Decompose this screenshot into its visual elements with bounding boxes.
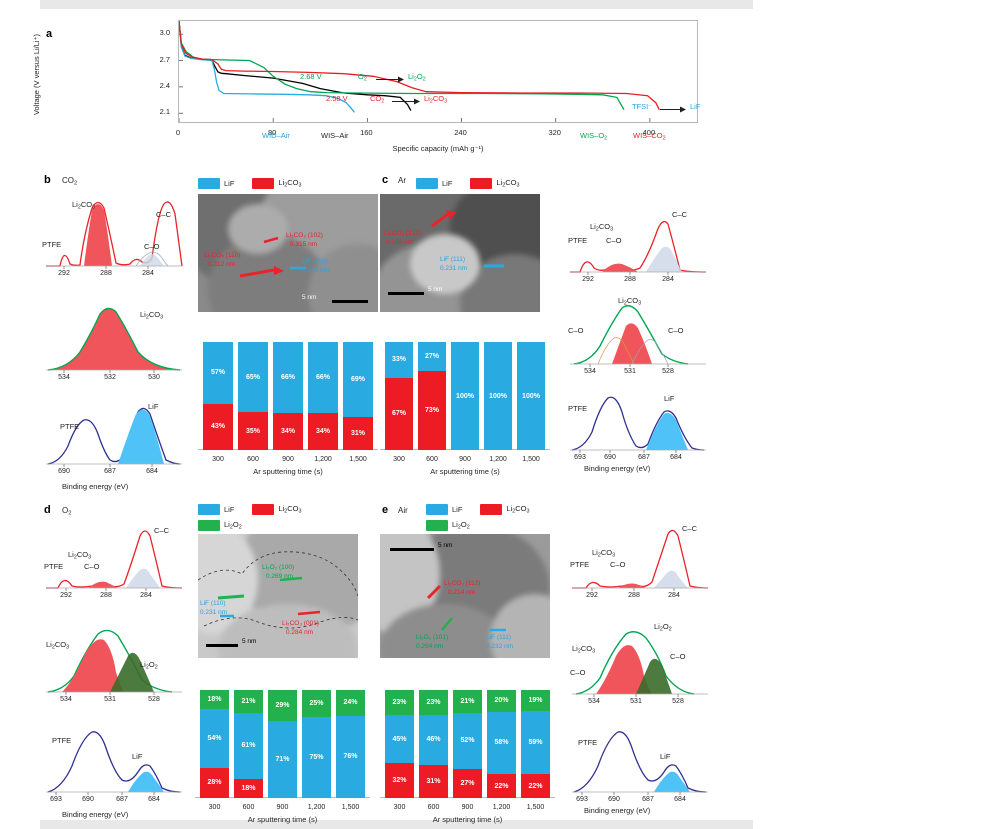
bar-xtick-900: 900 [448, 456, 482, 463]
peak-label-co: C–O [606, 236, 621, 245]
panel-d-legend-row1: LiF Li2CO3 [198, 504, 302, 515]
panel-d-spectrum-o1s: 534 531 528 Li2CO3 Li2O2 [44, 622, 184, 696]
panel-e-spectrum-f1s: 693 690 687 684 PTFE LiF [570, 724, 710, 796]
panel-d-tem-image: Li₂O₂ (100) 0.269 nm LiF (110) 0.231 nm … [198, 534, 358, 658]
tem-label-lif-111: LiF (111) [440, 256, 465, 263]
annotation-li2co3: Li2CO3 [424, 94, 447, 104]
panel-a-x-axis-label: Specific capacity (mAh g⁻¹) [178, 144, 698, 153]
annotation-o2: O2 [358, 72, 367, 82]
bar-segment-Li₂CO₃: 22% [521, 774, 550, 798]
bar-segment-Li₂O₂: 21% [234, 690, 263, 713]
bar-xtick-300: 300 [383, 804, 417, 811]
panel-e-letter: e [382, 504, 388, 516]
bar-segment-LiF: 59% [521, 711, 550, 775]
panel-e-axis-title: Binding energy (eV) [584, 806, 650, 815]
tem-label-lif-110: LiF (110) [302, 258, 328, 265]
tem-label-lif-110-d: 0.281 nm [302, 267, 329, 274]
bar-xtick-300: 300 [201, 456, 235, 463]
legend-label-li2co3: Li2CO3 [278, 504, 301, 514]
panel-a-letter: a [46, 28, 52, 40]
peak-label-lif: LiF [660, 752, 670, 761]
tick-687: 687 [97, 468, 123, 475]
tick-690: 690 [601, 796, 627, 803]
bar-segment-LiF: 45% [385, 715, 414, 764]
bar-segment-LiF: 46% [419, 715, 448, 765]
bar-xtick-1,200: 1,200 [300, 804, 334, 811]
tem-label-li2o2-100: Li₂O₂ (100) [262, 564, 294, 571]
bar-segment-LiF: 100% [484, 342, 512, 450]
bar-segment-Li₂O₂: 29% [268, 690, 297, 721]
tick-690: 690 [597, 454, 623, 461]
tem-label-li2o2-101-d: 0.264 nm [416, 643, 443, 650]
peak-label-li2o2: Li2O2 [654, 622, 672, 632]
bar-segment-LiF: 69% [343, 342, 373, 417]
peak-label-li2co3: Li2CO3 [590, 222, 613, 232]
tem-scalebar [390, 548, 434, 551]
bar-segment-LiF: 75% [302, 717, 331, 798]
peak-label-ptfe: PTFE [44, 562, 63, 571]
panel-c-spectrum-o1s: 534 531 528 Li2CO3 C–O C–O [568, 298, 708, 368]
legend-swatch-lif [426, 504, 448, 515]
tem-scalebar-label: 5 nm [302, 294, 316, 301]
panel-b-spectrum-o1s: 534 532 530 Li2CO3 [44, 302, 184, 374]
panel-d-spectrum-c1s: 292 288 284 PTFE Li2CO3 C–O C–C [44, 524, 184, 594]
panel-d-axis-title: Binding energy (eV) [62, 810, 128, 819]
tick-284: 284 [135, 270, 161, 277]
panel-a-ytick-2.4: 2.4 [148, 81, 170, 90]
panel-c: c Ar LiF Li2CO3 Li₂CO₃ (21̅2) 0.259 nm L… [378, 172, 718, 492]
legend-swatch-lif [198, 504, 220, 515]
peak-label-co: C–O [144, 242, 159, 251]
bar-column-300[interactable]: 57%43% [203, 342, 233, 450]
panel-c-axis-title: Binding energy (eV) [584, 464, 650, 473]
tick-684: 684 [663, 454, 689, 461]
panel-d: d O2 LiF Li2CO3 Li2O2 292 288 [40, 500, 380, 820]
tem-scalebar [388, 292, 424, 295]
bar-column-1,500[interactable]: 24%76% [336, 690, 365, 798]
bar-segment-Li₂CO₃: 27% [453, 769, 482, 798]
tem-label-li2o2-101: Li₂O₂ (101) [416, 634, 448, 641]
bar-segment-Li₂CO₃: 22% [487, 774, 516, 798]
tem-label-li2co3-212: Li₂CO₃ (21̅2) [384, 230, 421, 237]
tick-693: 693 [567, 454, 593, 461]
panel-b-letter: b [44, 174, 51, 186]
bar-column-300[interactable]: 33%67% [385, 342, 413, 450]
annotation-lif: LiF [690, 102, 700, 111]
tick-288: 288 [93, 270, 119, 277]
panel-b-spectrum-c1s: 292 288 284 PTFE Li2CO3 C–C C–O [44, 194, 184, 272]
tick-534: 534 [577, 368, 603, 375]
panel-a-xtick-160: 160 [351, 128, 381, 137]
legend-label-lif: LiF [224, 179, 234, 188]
bar-segment-Li₂CO₃: 32% [385, 763, 414, 798]
bar-xtick-1,500: 1,500 [519, 804, 553, 811]
peak-label-li2co3: Li2CO3 [68, 550, 91, 560]
bar-segment-LiF: 71% [268, 721, 297, 798]
bar-segment-Li₂O₂: 25% [302, 690, 331, 717]
bar-column-600[interactable]: 65%35% [238, 342, 268, 450]
bar-xtick-600: 600 [417, 804, 451, 811]
bar-segment-Li₂CO₃: 73% [418, 371, 446, 450]
panel-e-legend-row1: LiF Li2CO3 [426, 504, 530, 515]
bar-segment-LiF: 33% [385, 342, 413, 378]
peak-label-cc: C–C [156, 210, 171, 219]
tem-label-li2o2-100-d: 0.269 nm [266, 573, 293, 580]
bar-column-1,500[interactable]: 69%31% [343, 342, 373, 450]
bar-segment-LiF: 61% [234, 713, 263, 779]
tem-scalebar-label: 5 nm [242, 638, 256, 645]
tick-284: 284 [661, 592, 687, 599]
panel-e-tem-image: 5 nm Li₂CO₃ (112) 0.214 nm Li₂O₂ (101) 0… [380, 534, 550, 658]
bar-xtick-900: 900 [271, 456, 305, 463]
bar-segment-LiF: 58% [487, 712, 516, 775]
legend-swatch-li2co3 [470, 178, 492, 189]
peak-label-cc: C–C [154, 526, 169, 535]
peak-label-co-left: C–O [570, 668, 585, 677]
panel-e-bar-chart: 23%45%32%30023%46%31%60021%52%27%90020%5… [380, 672, 555, 812]
tem-label-lif-111-d: 0.232 nm [486, 643, 513, 650]
tick-284: 284 [655, 276, 681, 283]
annotation-li2o2: Li2O2 [408, 72, 426, 82]
peak-label-ptfe: PTFE [570, 560, 589, 569]
bar-column-1,500[interactable]: 19%59%22% [521, 690, 550, 798]
tem-label-li2co3-112-d: 0.214 nm [448, 589, 475, 596]
bar-chart-x-label: Ar sputtering time (s) [380, 815, 555, 824]
peak-label-ptfe-f1s: PTFE [568, 404, 587, 413]
bar-column-1,200[interactable]: 20%58%22% [487, 690, 516, 798]
bar-column-900[interactable]: 100% [451, 342, 479, 450]
tem-label-li2co3-001-d: 0.284 nm [286, 629, 313, 636]
peak-label-co: C–O [610, 560, 625, 569]
tick-284: 284 [133, 592, 159, 599]
legend-label-li2o2: Li2O2 [224, 520, 242, 530]
annotation-co2: CO2 [370, 94, 384, 104]
tick-684: 684 [141, 796, 167, 803]
panel-a-xtick-0: 0 [163, 128, 193, 137]
bar-segment-Li₂O₂: 20% [487, 690, 516, 712]
panel-a-plot-area [178, 20, 698, 123]
tem-scalebar [332, 300, 368, 303]
bar-column-1,500[interactable]: 100% [517, 342, 545, 450]
tem-label-li2co3-110: Li₂CO₃ (11̅0) [204, 252, 240, 259]
tick-292: 292 [579, 592, 605, 599]
tem-label-lif-110-d: 0.231 nm [200, 609, 227, 616]
bar-xtick-1,200: 1,200 [485, 804, 519, 811]
legend-label-li2co3: Li2CO3 [496, 178, 519, 188]
tem-scalebar [206, 644, 238, 647]
tick-687: 687 [109, 796, 135, 803]
peak-label-co: C–O [84, 562, 99, 571]
bar-xtick-300: 300 [382, 456, 416, 463]
legend-swatch-lif [198, 178, 220, 189]
panel-d-bar-chart: 18%54%28%30021%61%18%60029%71%90025%75%1… [195, 672, 370, 812]
legend-swatch-lif [416, 178, 438, 189]
bar-xtick-900: 900 [451, 804, 485, 811]
panel-a-xtick-320: 320 [540, 128, 570, 137]
tick-684: 684 [667, 796, 693, 803]
panel-e-legend-row2: Li2O2 [426, 520, 470, 531]
curve-label-wid-air: WID–Air [262, 131, 290, 140]
tick-534: 534 [51, 374, 77, 381]
tick-690: 690 [75, 796, 101, 803]
bar-segment-Li₂CO₃: 35% [238, 412, 268, 450]
bar-column-900[interactable]: 21%52%27% [453, 690, 482, 798]
tick-528: 528 [141, 696, 167, 703]
annotation-268v: 2.68 V [300, 72, 322, 81]
bar-xtick-600: 600 [415, 456, 449, 463]
panel-c-spectrum-f1s: 693 690 687 684 PTFE LiF [568, 384, 708, 454]
tem-label-li2co3-110-d: 0.312 nm [208, 261, 235, 268]
bar-column-600[interactable]: 21%61%18% [234, 690, 263, 798]
bar-segment-Li₂O₂: 23% [419, 690, 448, 715]
bar-xtick-900: 900 [266, 804, 300, 811]
bar-xtick-1,500: 1,500 [514, 456, 548, 463]
panel-d-letter: d [44, 504, 51, 516]
tick-528: 528 [655, 368, 681, 375]
bar-column-600[interactable]: 27%73% [418, 342, 446, 450]
peak-label-ptfe: PTFE [42, 240, 61, 249]
panel-a: a Voltage (V versus Li/Li⁺) Specific cap… [40, 14, 753, 164]
peak-label-lif: LiF [132, 752, 142, 761]
bar-xtick-1,200: 1,200 [481, 456, 515, 463]
panel-b: b CO2 292 288 284 PTFE Li2CO3 C–C C–O [40, 172, 380, 492]
curve-label-wis-co2: WIS–CO2 [633, 131, 666, 141]
peak-label-co-right: C–O [668, 326, 683, 335]
panel-b-tem-image: Li₂CO₃ (102) 0.315 nm Li₂CO₃ (11̅0) 0.31… [198, 194, 378, 312]
panel-b-axis-title: Binding energy (eV) [62, 482, 128, 491]
bar-column-900[interactable]: 29%71% [268, 690, 297, 798]
panel-c-spectrum-c1s: 292 288 284 PTFE Li2CO3 C–O C–C [568, 212, 708, 278]
tick-292: 292 [575, 276, 601, 283]
tem-label-li2co3-212-d: 0.259 nm [386, 239, 413, 246]
bar-column-600[interactable]: 23%46%31% [419, 690, 448, 798]
bar-segment-LiF: 66% [273, 342, 303, 413]
panel-c-legend: LiF Li2CO3 [380, 178, 520, 189]
bar-column-1,200[interactable]: 25%75% [302, 690, 331, 798]
bar-xtick-1,500: 1,500 [341, 456, 375, 463]
peak-label-li2co3: Li2CO3 [72, 200, 95, 210]
panel-b-bar-chart: 57%43%30065%35%60066%34%90066%34%1,20069… [198, 324, 378, 464]
peak-label-li2co3: Li2CO3 [592, 548, 615, 558]
tick-292: 292 [53, 592, 79, 599]
panel-c-tem-image: Li₂CO₃ (21̅2) 0.259 nm LiF (111) 0.231 n… [380, 194, 540, 312]
peak-label-lif: LiF [148, 402, 158, 411]
tem-scalebar-label: 5 nm [438, 542, 452, 549]
panel-a-xtick-240: 240 [446, 128, 476, 137]
tick-288: 288 [621, 592, 647, 599]
bar-xtick-1,500: 1,500 [334, 804, 368, 811]
panel-e-spectrum-o1s: 534 531 528 Li2CO3 Li2O2 C–O C–O [570, 622, 710, 698]
bar-segment-LiF: 27% [418, 342, 446, 371]
bar-xtick-600: 600 [236, 456, 270, 463]
peak-label-li2co3-o1s: Li2CO3 [618, 296, 641, 306]
bar-chart-x-label: Ar sputtering time (s) [380, 467, 550, 476]
tick-534: 534 [581, 698, 607, 705]
bar-segment-LiF: 100% [517, 342, 545, 450]
curve-WIS–CO₂ [179, 21, 659, 110]
tick-693: 693 [43, 796, 69, 803]
bar-xtick-600: 600 [232, 804, 266, 811]
bar-segment-LiF: 100% [451, 342, 479, 450]
peak-label-co-left: C–O [568, 326, 583, 335]
panel-e: e Air LiF Li2CO3 Li2O2 5 nm Li₂CO₃ (1 [378, 500, 718, 820]
tick-532: 532 [97, 374, 123, 381]
bar-chart-x-label: Ar sputtering time (s) [195, 815, 370, 824]
bar-segment-LiF: 54% [200, 709, 229, 767]
bar-segment-LiF: 65% [238, 342, 268, 412]
tick-531: 531 [97, 696, 123, 703]
curve-label-wis-o2: WIS–O2 [580, 131, 607, 141]
peak-label-cc: C–C [672, 210, 687, 219]
tick-531: 531 [623, 698, 649, 705]
bar-column-1,200[interactable]: 100% [484, 342, 512, 450]
peak-label-ptfe-f1s: PTFE [578, 738, 597, 747]
curve-WIS–O₂ [179, 21, 624, 110]
curve-label-wis-air: WIS–Air [321, 131, 349, 140]
bar-segment-LiF: 76% [336, 716, 365, 798]
tem-label-li2co3-102-d: 0.315 nm [290, 241, 317, 248]
bar-segment-Li₂O₂: 21% [453, 690, 482, 713]
legend-swatch-li2o2 [426, 520, 448, 531]
tick-528: 528 [665, 698, 691, 705]
peak-label-ptfe-f1s: PTFE [60, 422, 79, 431]
figure-page: a Voltage (V versus Li/Li⁺) Specific cap… [0, 0, 991, 829]
panel-a-ytick-2.7: 2.7 [148, 55, 170, 64]
bar-column-300[interactable]: 23%45%32% [385, 690, 414, 798]
tem-label-lif-111-d: 0.231 nm [440, 265, 467, 272]
bar-segment-Li₂CO₃: 67% [385, 378, 413, 450]
bar-segment-Li₂O₂: 18% [200, 690, 229, 709]
arrow-o2-to-li2o2 [376, 76, 404, 83]
legend-label-lif: LiF [442, 179, 452, 188]
legend-label-li2co3: Li2CO3 [278, 178, 301, 188]
arrow-co2-to-li2co3 [392, 98, 420, 105]
legend-label-li2o2: Li2O2 [452, 520, 470, 530]
bar-segment-Li₂CO₃: 34% [308, 413, 338, 450]
peak-label-li2co3-o1s: Li2CO3 [46, 640, 69, 650]
bar-segment-Li₂CO₃: 31% [419, 765, 448, 798]
bar-segment-Li₂O₂: 19% [521, 690, 550, 711]
legend-swatch-li2co3 [252, 504, 274, 515]
bar-segment-Li₂CO₃: 28% [200, 768, 229, 798]
annotation-258v: 2.58 V [326, 94, 348, 103]
bar-segment-Li₂CO₃: 31% [343, 417, 373, 450]
panel-d-legend-row2: Li2O2 [198, 520, 242, 531]
peak-label-li2co3-o1s: Li2CO3 [140, 310, 163, 320]
tick-534: 534 [53, 696, 79, 703]
panel-a-y-axis-label: Voltage (V versus Li/Li⁺) [32, 23, 41, 126]
peak-label-lif: LiF [664, 394, 674, 403]
peak-label-li2co3-o1s: Li2CO3 [572, 644, 595, 654]
tem-label-lif-111: LiF (111) [486, 634, 511, 641]
tem-scalebar-label: 5 nm [428, 286, 442, 293]
legend-label-lif: LiF [452, 505, 462, 514]
tick-288: 288 [93, 592, 119, 599]
panel-b-legend: LiF Li2CO3 [198, 178, 302, 189]
panel-e-spectrum-c1s: 292 288 284 PTFE Li2CO3 C–O C–C [570, 524, 710, 594]
peak-label-cc: C–C [682, 524, 697, 533]
bar-xtick-300: 300 [198, 804, 232, 811]
legend-label-li2co3: Li2CO3 [506, 504, 529, 514]
tick-690: 690 [51, 468, 77, 475]
tem-label-lif-110: LiF (110) [200, 600, 226, 607]
tick-288: 288 [617, 276, 643, 283]
panel-d-condition: O2 [62, 506, 71, 516]
peak-label-ptfe: PTFE [568, 236, 587, 245]
tick-693: 693 [569, 796, 595, 803]
peak-label-co-right: C–O [670, 652, 685, 661]
panel-d-spectrum-f1s: 693 690 687 684 PTFE LiF [44, 722, 184, 796]
bar-column-300[interactable]: 18%54%28% [200, 690, 229, 798]
bar-segment-Li₂O₂: 24% [336, 690, 365, 716]
legend-swatch-li2co3 [480, 504, 502, 515]
arrow-tfsi-to-lif [660, 106, 686, 113]
panel-c-bar-chart: 33%67%30027%73%600100%900100%1,200100%1,… [380, 324, 550, 464]
legend-swatch-li2co3 [252, 178, 274, 189]
panel-a-curves [179, 21, 697, 122]
panel-b-spectrum-f1s: 690 687 684 PTFE LiF [44, 400, 184, 468]
bar-segment-LiF: 52% [453, 713, 482, 769]
bar-column-1,200[interactable]: 66%34% [308, 342, 338, 450]
panel-b-condition: CO2 [62, 176, 77, 186]
peak-label-ptfe-f1s: PTFE [52, 736, 71, 745]
legend-label-lif: LiF [224, 505, 234, 514]
bar-column-900[interactable]: 66%34% [273, 342, 303, 450]
bar-segment-Li₂CO₃: 18% [234, 779, 263, 798]
legend-swatch-li2o2 [198, 520, 220, 531]
tem-label-li2co3-112: Li₂CO₃ (112) [444, 580, 480, 587]
bar-xtick-1,200: 1,200 [306, 456, 340, 463]
bar-chart-x-label: Ar sputtering time (s) [198, 467, 378, 476]
tick-687: 687 [631, 454, 657, 461]
panel-a-ytick-2.1: 2.1 [148, 107, 170, 116]
tem-label-li2co3-102: Li₂CO₃ (102) [286, 232, 323, 239]
tick-292: 292 [51, 270, 77, 277]
panel-a-ytick-3.0: 3.0 [148, 28, 170, 37]
bar-segment-LiF: 57% [203, 342, 233, 404]
bar-segment-Li₂CO₃: 34% [273, 413, 303, 450]
bar-segment-LiF: 66% [308, 342, 338, 413]
tick-530: 530 [141, 374, 167, 381]
tick-687: 687 [635, 796, 661, 803]
tick-531: 531 [617, 368, 643, 375]
bar-segment-Li₂O₂: 23% [385, 690, 414, 715]
bar-segment-Li₂CO₃: 43% [203, 404, 233, 450]
tem-label-li2co3-001: Li₂CO₃ (001) [282, 620, 319, 627]
annotation-tfsi: TFSI⁻ [632, 102, 652, 111]
panel-e-condition: Air [398, 506, 408, 515]
page-top-rule [40, 0, 753, 9]
tick-684: 684 [139, 468, 165, 475]
peak-label-li2o2: Li2O2 [140, 660, 158, 670]
